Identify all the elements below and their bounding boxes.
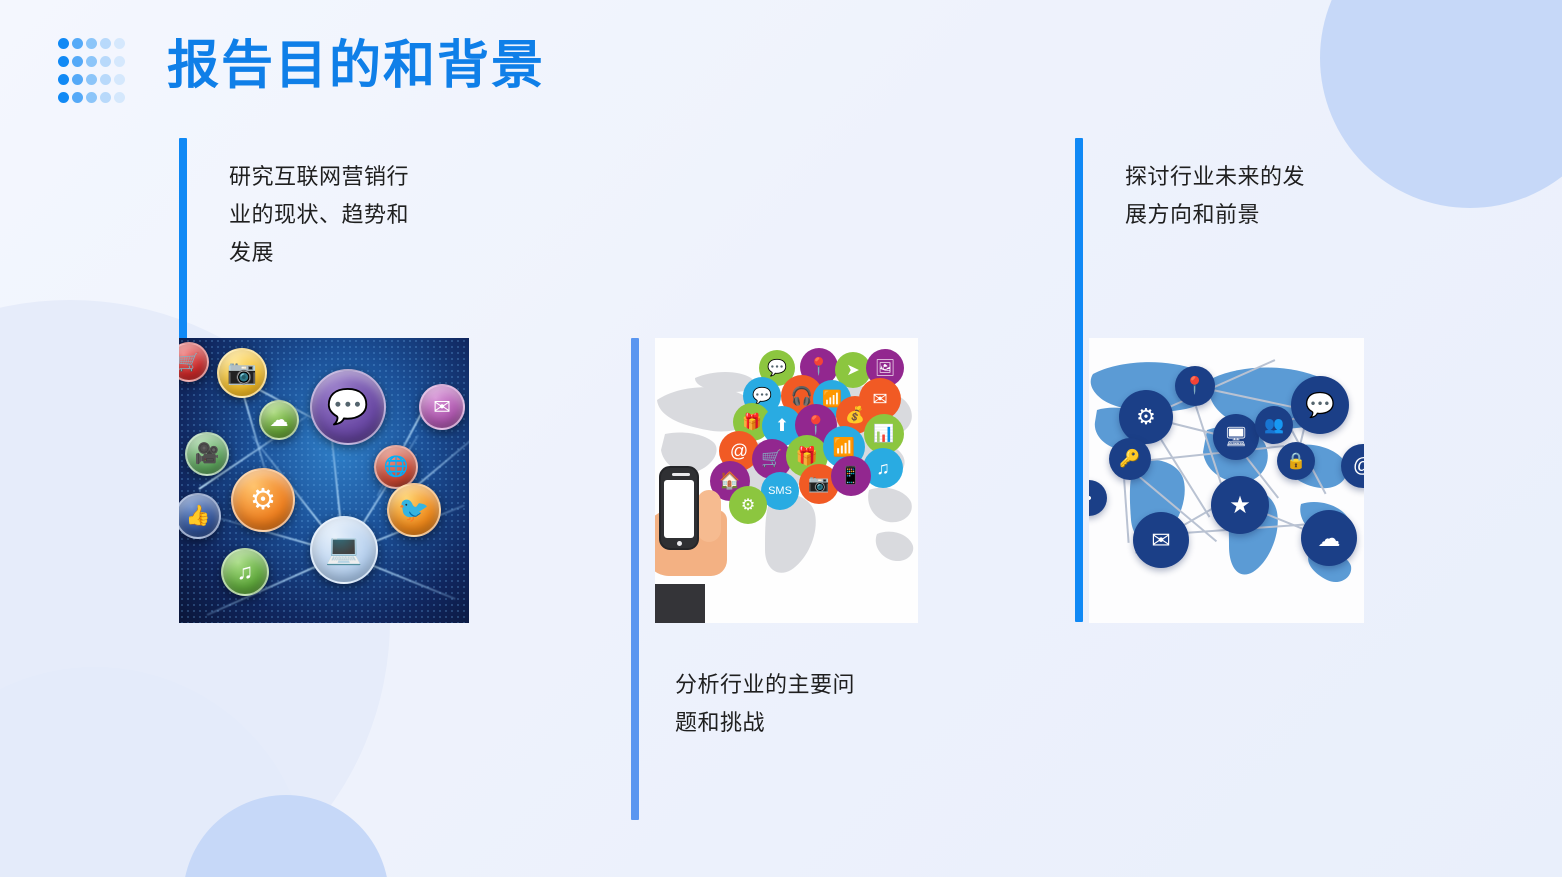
location-pin-icon: 📍 [1175,366,1215,406]
star-icon: ★ [1211,476,1269,534]
chat-bubble-icon: 💬 [310,369,386,445]
gear-icon: ⚙ [729,486,767,524]
gears-icon: ⚙ [231,468,295,532]
smartphone-icon: 📱 [831,456,871,496]
dot-grid-icon [58,38,128,110]
smartphone-illustration [659,466,699,550]
bird-icon: 🐦 [387,483,441,537]
page-title: 报告目的和背景 [167,37,545,97]
gear-icon: ⚙ [1119,390,1173,444]
slide-canvas: 报告目的和背景 研究互联网营销行 业的现状、趋势和 发展 📷 💬 ✉ ☁ [0,0,1562,877]
laptop-cursor-icon: 💻 [310,516,378,584]
monitor-icon: 🖥 [1213,414,1259,460]
music-note-icon: ♫ [221,548,269,596]
lock-icon: 🔒 [1277,442,1315,480]
envelope-icon: ✉ [419,384,465,430]
people-icon: 👥 [1255,406,1293,444]
cloud-icon: ☁ [1301,510,1357,566]
chat-bubble-icon: 💬 [1291,376,1349,434]
column-1-text: 研究互联网营销行 业的现状、趋势和 发展 [229,158,459,271]
image-bottom-bar [655,584,705,623]
column-3-image: ⚙ 📍 💬 🔑 🖥 👥 🔒 ★ ✉ ☁ @ • [1089,338,1364,623]
accent-bar-col-2 [631,338,639,820]
envelope-icon: ✉ [1133,512,1189,568]
cloud-download-icon: ☁ [259,400,299,440]
column-2-text: 分析行业的主要问 题和挑战 [675,666,905,742]
accent-bar-col-3 [1075,138,1083,622]
thumb-illustration [697,490,721,542]
column-2-image: 💬 📍 ➤ 🖼 💬 🎧 📶 ✉ 🎁 ⬆ 📍 💰 📊 @ 🛒 🎁 📶 ♫ 🏠 SM… [655,338,918,623]
camera-icon: 📷 [217,348,267,398]
video-camera-icon: 🎥 [185,432,229,476]
column-3-text: 探讨行业未来的发 展方向和前景 [1125,158,1355,234]
column-1-image: 📷 💬 ✉ ☁ 🎥 🌐 ⚙ 🐦 👍 💻 ♫ [179,338,469,623]
key-icon: 🔑 [1109,438,1151,480]
